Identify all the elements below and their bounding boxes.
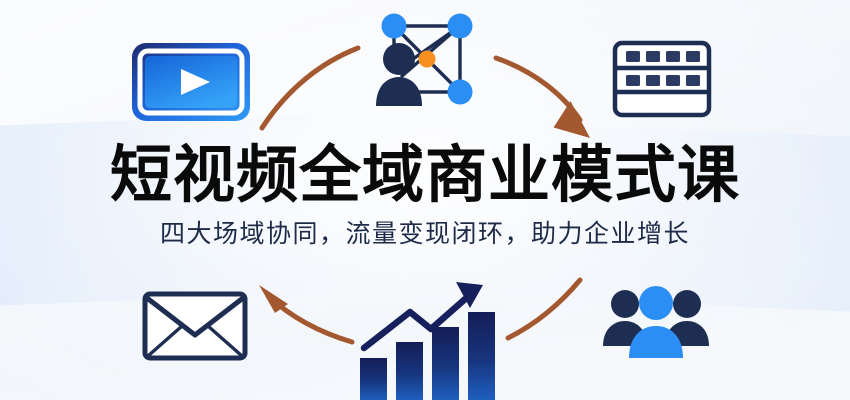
arrow-top-left-to-center (262, 48, 358, 128)
user-group-center-figure (629, 286, 683, 358)
arrow-bottom-center-to-left (259, 285, 352, 342)
envelope-icon (142, 291, 248, 361)
network-node-top-right (448, 14, 473, 39)
page-title: 短视频全域商业模式课 (0, 143, 850, 209)
network-node-bottom-right (448, 80, 473, 105)
headline-block: 短视频全域商业模式课 四大场域协同，流量变现闭环，助力企业增长 (0, 143, 850, 249)
person-silhouette (376, 43, 422, 106)
server-rack-icon (612, 40, 712, 118)
network-people-icon (366, 6, 484, 114)
promo-banner: 短视频全域商业模式课 四大场域协同，流量变现闭环，助力企业增长 (0, 0, 850, 400)
network-node-top-left (382, 14, 407, 39)
page-subtitle: 四大场域协同，流量变现闭环，助力企业增长 (0, 219, 850, 249)
user-group-icon (601, 283, 711, 361)
bar-chart-growth-icon (352, 276, 502, 400)
growth-trend-arrow (364, 282, 483, 348)
arrow-center-to-top-right (496, 58, 598, 138)
network-node-center (419, 51, 436, 68)
video-play-icon (131, 42, 251, 122)
arrow-bottom-right-up (508, 280, 580, 338)
